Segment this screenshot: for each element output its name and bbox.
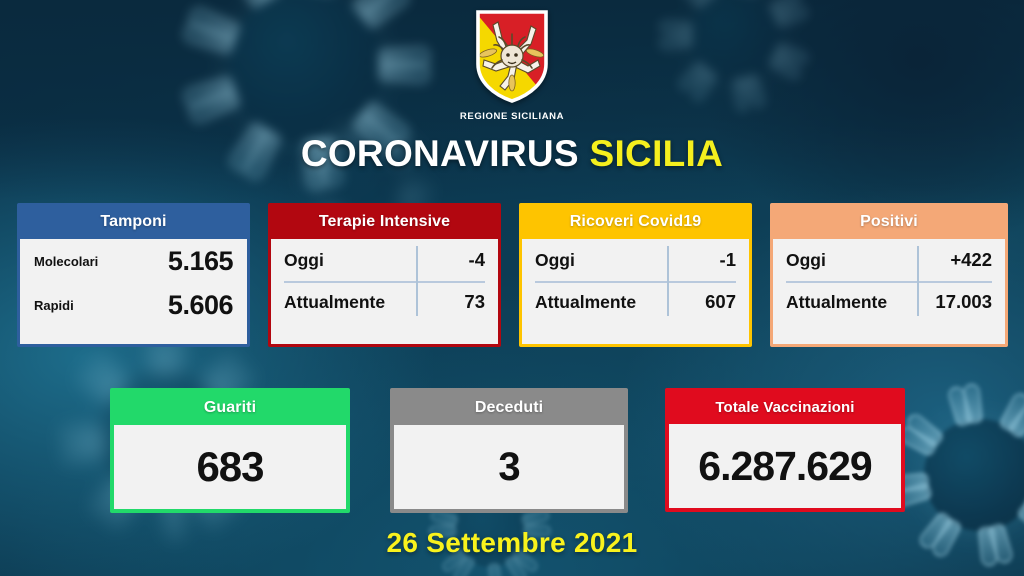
stat-row: Molecolari 5.165 (20, 239, 247, 283)
card-body: Oggi -4 Attualmente 73 (271, 239, 498, 344)
title-accent: SICILIA (590, 133, 724, 174)
crest-caption: REGIONE SICILIANA (0, 111, 1024, 122)
divider-horizontal (535, 281, 736, 283)
stat-value: +422 (920, 249, 992, 271)
virus-spike (962, 383, 983, 425)
stat-rows: Oggi +422 Attualmente 17.003 (773, 239, 1005, 323)
stat-rows: Molecolari 5.165 Rapidi 5.606 (20, 239, 247, 327)
report-date: 26 Settembre 2021 (0, 527, 1024, 559)
divider-vertical (917, 246, 919, 316)
divider-vertical (667, 246, 669, 316)
card-title: Tamponi (20, 206, 247, 239)
divider-horizontal (786, 281, 992, 283)
trinacria-shield-icon (472, 8, 552, 104)
stat-row: Attualmente 17.003 (773, 281, 1005, 323)
card-body: 3 (394, 425, 624, 509)
card-body: Oggi -1 Attualmente 607 (522, 239, 749, 344)
card-body: 683 (114, 425, 346, 509)
virus-spike (60, 426, 104, 444)
stat-label: Attualmente (535, 292, 664, 313)
card-body: Molecolari 5.165 Rapidi 5.606 (20, 239, 247, 344)
regional-crest: REGIONE SICILIANA (0, 8, 1024, 122)
stat-value: 6.287.629 (669, 424, 901, 508)
stat-value: 5.606 (168, 290, 233, 321)
card-body: 6.287.629 (669, 424, 901, 508)
stat-value: -1 (664, 249, 736, 271)
card-title: Deceduti (394, 392, 624, 425)
stat-card-terapie-intensive: Terapie Intensive Oggi -4 Attualmente 73 (268, 203, 501, 347)
divider-horizontal (284, 281, 485, 283)
stat-value: 73 (413, 291, 485, 313)
stat-label: Rapidi (34, 298, 168, 313)
stat-row: Oggi -1 (522, 239, 749, 281)
stat-value: 607 (664, 291, 736, 313)
stat-value: -4 (413, 249, 485, 271)
stat-value: 683 (114, 425, 346, 509)
card-title: Positivi (773, 206, 1005, 239)
stat-value: 5.165 (168, 246, 233, 277)
stat-row: Oggi -4 (271, 239, 498, 281)
stat-label: Attualmente (284, 292, 413, 313)
stat-value: 17.003 (920, 291, 992, 313)
stat-label: Molecolari (34, 254, 168, 269)
stat-row: Attualmente 607 (522, 281, 749, 323)
divider-vertical (416, 246, 418, 316)
stat-row: Oggi +422 (773, 239, 1005, 281)
stat-label: Oggi (535, 250, 664, 271)
stat-label: Oggi (284, 250, 413, 271)
page-title: CORONAVIRUS SICILIA (0, 133, 1024, 175)
stat-label: Oggi (786, 250, 920, 271)
stat-card-tamponi: Tamponi Molecolari 5.165 Rapidi 5.606 (17, 203, 250, 347)
stat-card-guariti: Guariti 683 (110, 388, 350, 513)
stat-card-positivi: Positivi Oggi +422 Attualmente 17.003 (770, 203, 1008, 347)
stat-row: Rapidi 5.606 (20, 283, 247, 327)
stat-value: 3 (394, 425, 624, 509)
title-primary: CORONAVIRUS (301, 133, 579, 174)
stat-card-totale-vaccinazioni: Totale Vaccinazioni 6.287.629 (665, 388, 905, 512)
card-title: Terapie Intensive (271, 206, 498, 239)
stat-rows: Oggi -4 Attualmente 73 (271, 239, 498, 323)
stat-label: Attualmente (786, 292, 920, 313)
card-body: Oggi +422 Attualmente 17.003 (773, 239, 1005, 344)
stat-card-deceduti: Deceduti 3 (390, 388, 628, 513)
card-title: Totale Vaccinazioni (669, 392, 901, 424)
stat-row: Attualmente 73 (271, 281, 498, 323)
stat-rows: Oggi -1 Attualmente 607 (522, 239, 749, 323)
stat-card-ricoveri-covid19: Ricoveri Covid19 Oggi -1 Attualmente 607 (519, 203, 752, 347)
card-title: Ricoveri Covid19 (522, 206, 749, 239)
card-title: Guariti (114, 392, 346, 425)
